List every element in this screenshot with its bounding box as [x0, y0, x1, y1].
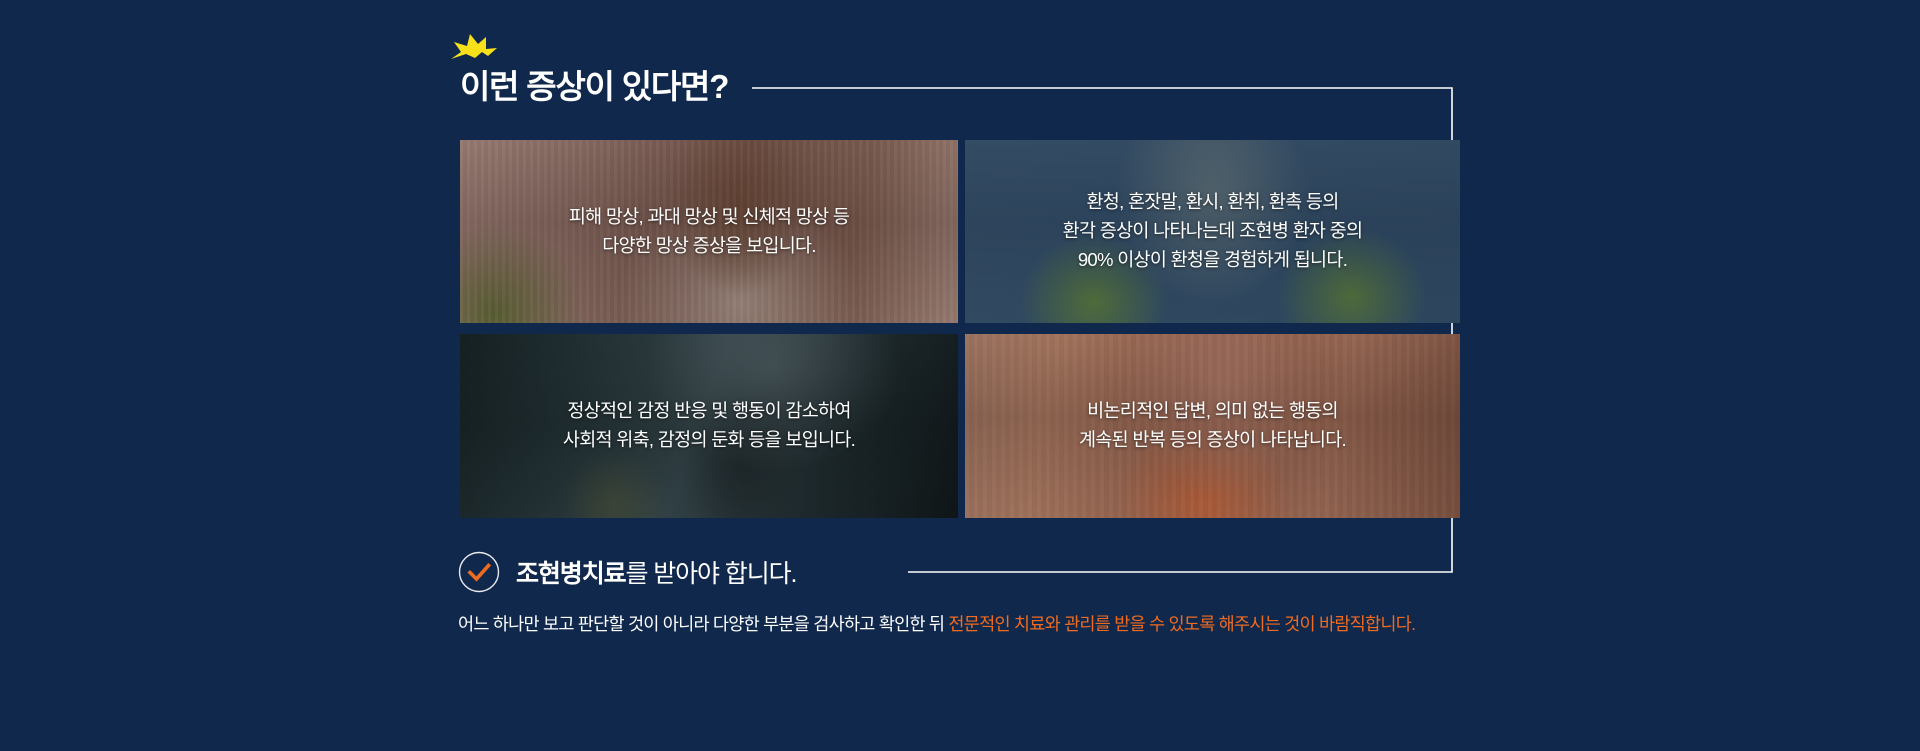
symptom-card-delusion[interactable]: 피해 망상, 과대 망상 및 신체적 망상 등 다양한 망상 증상을 보입니다. — [460, 140, 958, 323]
cta-description: 어느 하나만 보고 판단할 것이 아니라 다양한 부분을 검사하고 확인한 뒤 … — [458, 609, 1464, 639]
symptom-card-line: 비논리적인 답변, 의미 없는 행동의 — [1079, 397, 1346, 426]
cta-title-rest: 를 받아야 합니다. — [626, 560, 797, 588]
symptom-card-grid: 피해 망상, 과대 망상 및 신체적 망상 등 다양한 망상 증상을 보입니다.… — [460, 140, 1460, 518]
cta-description-accent: 전문적인 치료와 관리를 받을 수 있도록 해주시는 것이 바람직합니다. — [948, 614, 1415, 634]
symptom-card-line: 피해 망상, 과대 망상 및 신체적 망상 등 — [569, 203, 849, 232]
symptom-card-text: 비논리적인 답변, 의미 없는 행동의 계속된 반복 등의 증상이 나타납니다. — [1061, 397, 1364, 454]
check-circle-icon — [458, 551, 500, 593]
symptom-card-line: 정상적인 감정 반응 및 행동이 감소하여 — [563, 397, 855, 426]
cta-description-plain: 어느 하나만 보고 판단할 것이 아니라 다양한 부분을 검사하고 확인한 뒤 — [458, 614, 948, 634]
section-heading-title: 이런 증상이 있다면? — [460, 70, 728, 103]
cta-heading-row: 조현병치료를 받아야 합니다. — [458, 551, 796, 593]
symptom-card-line: 사회적 위축, 감정의 둔화 등을 보입니다. — [563, 426, 855, 455]
symptom-card-line: 환청, 혼잣말, 환시, 환취, 환촉 등의 — [1063, 188, 1363, 217]
symptom-card-negative-symptoms[interactable]: 정상적인 감정 반응 및 행동이 감소하여 사회적 위축, 감정의 둔화 등을 … — [460, 334, 958, 518]
symptom-card-line: 다양한 망상 증상을 보입니다. — [569, 232, 849, 261]
symptom-card-line: 환각 증상이 나타나는데 조현병 환자 중의 — [1063, 217, 1363, 246]
symptom-card-disorganized-behavior[interactable]: 비논리적인 답변, 의미 없는 행동의 계속된 반복 등의 증상이 나타납니다. — [965, 334, 1460, 518]
symptom-card-line: 90% 이상이 환청을 경험하게 됩니다. — [1063, 246, 1363, 275]
promo-section: 이런 증상이 있다면? 피해 망상, 과대 망상 및 신체적 망상 등 다양한 … — [0, 0, 1920, 751]
crown-star-icon — [448, 32, 500, 72]
symptom-card-text: 피해 망상, 과대 망상 및 신체적 망상 등 다양한 망상 증상을 보입니다. — [551, 203, 867, 260]
symptom-card-line: 계속된 반복 등의 증상이 나타납니다. — [1079, 426, 1346, 455]
cta-title: 조현병치료를 받아야 합니다. — [516, 554, 796, 590]
cta-title-strong: 조현병치료 — [516, 560, 626, 588]
symptom-card-hallucination[interactable]: 환청, 혼잣말, 환시, 환취, 환촉 등의 환각 증상이 나타나는데 조현병 … — [965, 140, 1460, 323]
symptom-card-text: 정상적인 감정 반응 및 행동이 감소하여 사회적 위축, 감정의 둔화 등을 … — [545, 397, 873, 454]
symptom-card-text: 환청, 혼잣말, 환시, 환취, 환촉 등의 환각 증상이 나타나는데 조현병 … — [1045, 188, 1381, 274]
section-heading: 이런 증상이 있다면? — [460, 55, 728, 103]
